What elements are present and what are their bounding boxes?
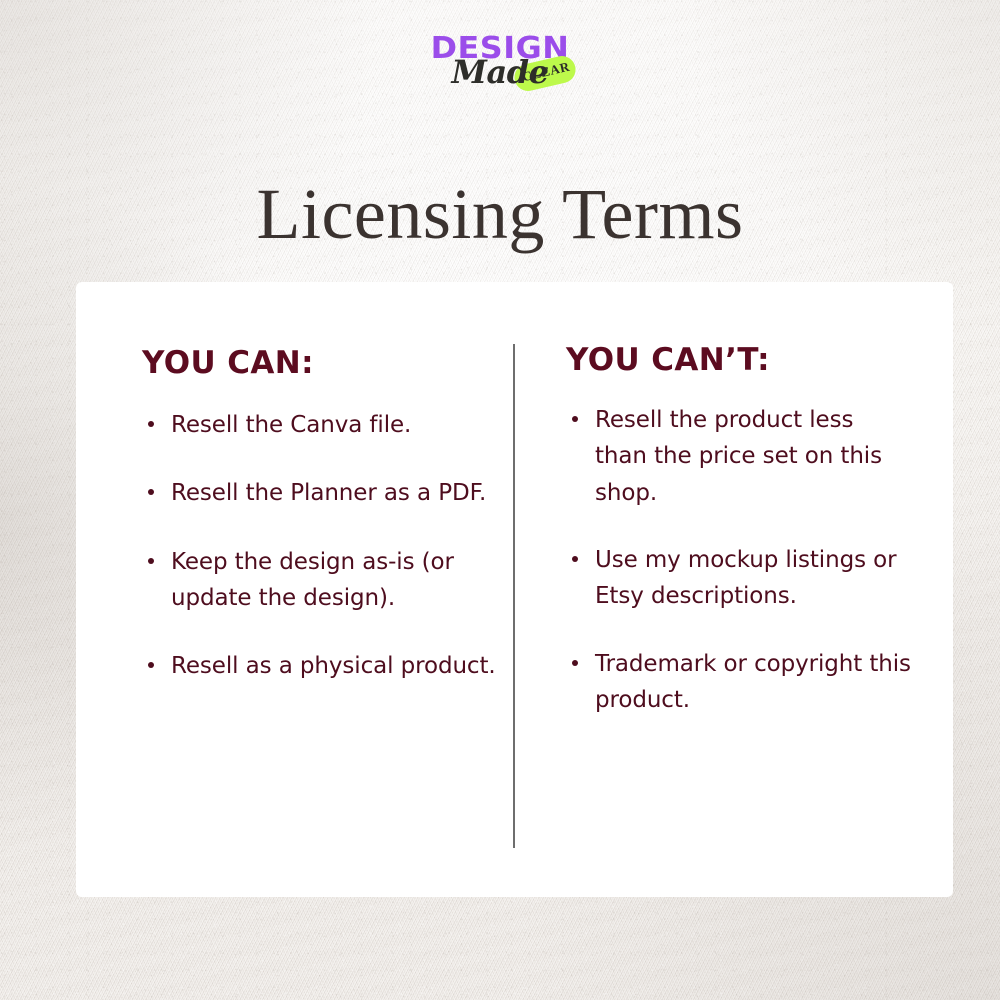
poster-page: DESIGN Made CLEAR Licensing Terms YOU CA…: [0, 0, 1000, 1000]
terms-card: YOU CAN: Resell the Canva file. Resell t…: [76, 282, 953, 897]
column-you-cannot: YOU CAN’T: Resell the product less than …: [566, 282, 911, 749]
brand-logo: DESIGN Made CLEAR: [0, 34, 1000, 108]
list-item: Trademark or copyright this product.: [566, 646, 911, 719]
you-cannot-list: Resell the product less than the price s…: [566, 402, 911, 718]
list-item: Keep the design as-is (or update the des…: [142, 544, 502, 617]
page-title: Licensing Terms: [0, 178, 1000, 250]
list-item: Resell as a physical product.: [142, 648, 502, 684]
list-item: Resell the Planner as a PDF.: [142, 475, 502, 511]
column-you-can: YOU CAN: Resell the Canva file. Resell t…: [142, 282, 502, 717]
column-divider: [513, 344, 515, 848]
column-you-cannot-heading: YOU CAN’T:: [566, 345, 911, 376]
list-item: Resell the product less than the price s…: [566, 402, 911, 511]
list-item: Resell the Canva file.: [142, 407, 502, 443]
you-can-list: Resell the Canva file. Resell the Planne…: [142, 407, 502, 685]
list-item: Use my mockup listings or Etsy descripti…: [566, 542, 911, 615]
terms-card-inner: YOU CAN: Resell the Canva file. Resell t…: [76, 282, 953, 897]
brand-logo-wrap: DESIGN Made CLEAR: [410, 34, 590, 108]
column-you-can-heading: YOU CAN:: [142, 348, 502, 379]
